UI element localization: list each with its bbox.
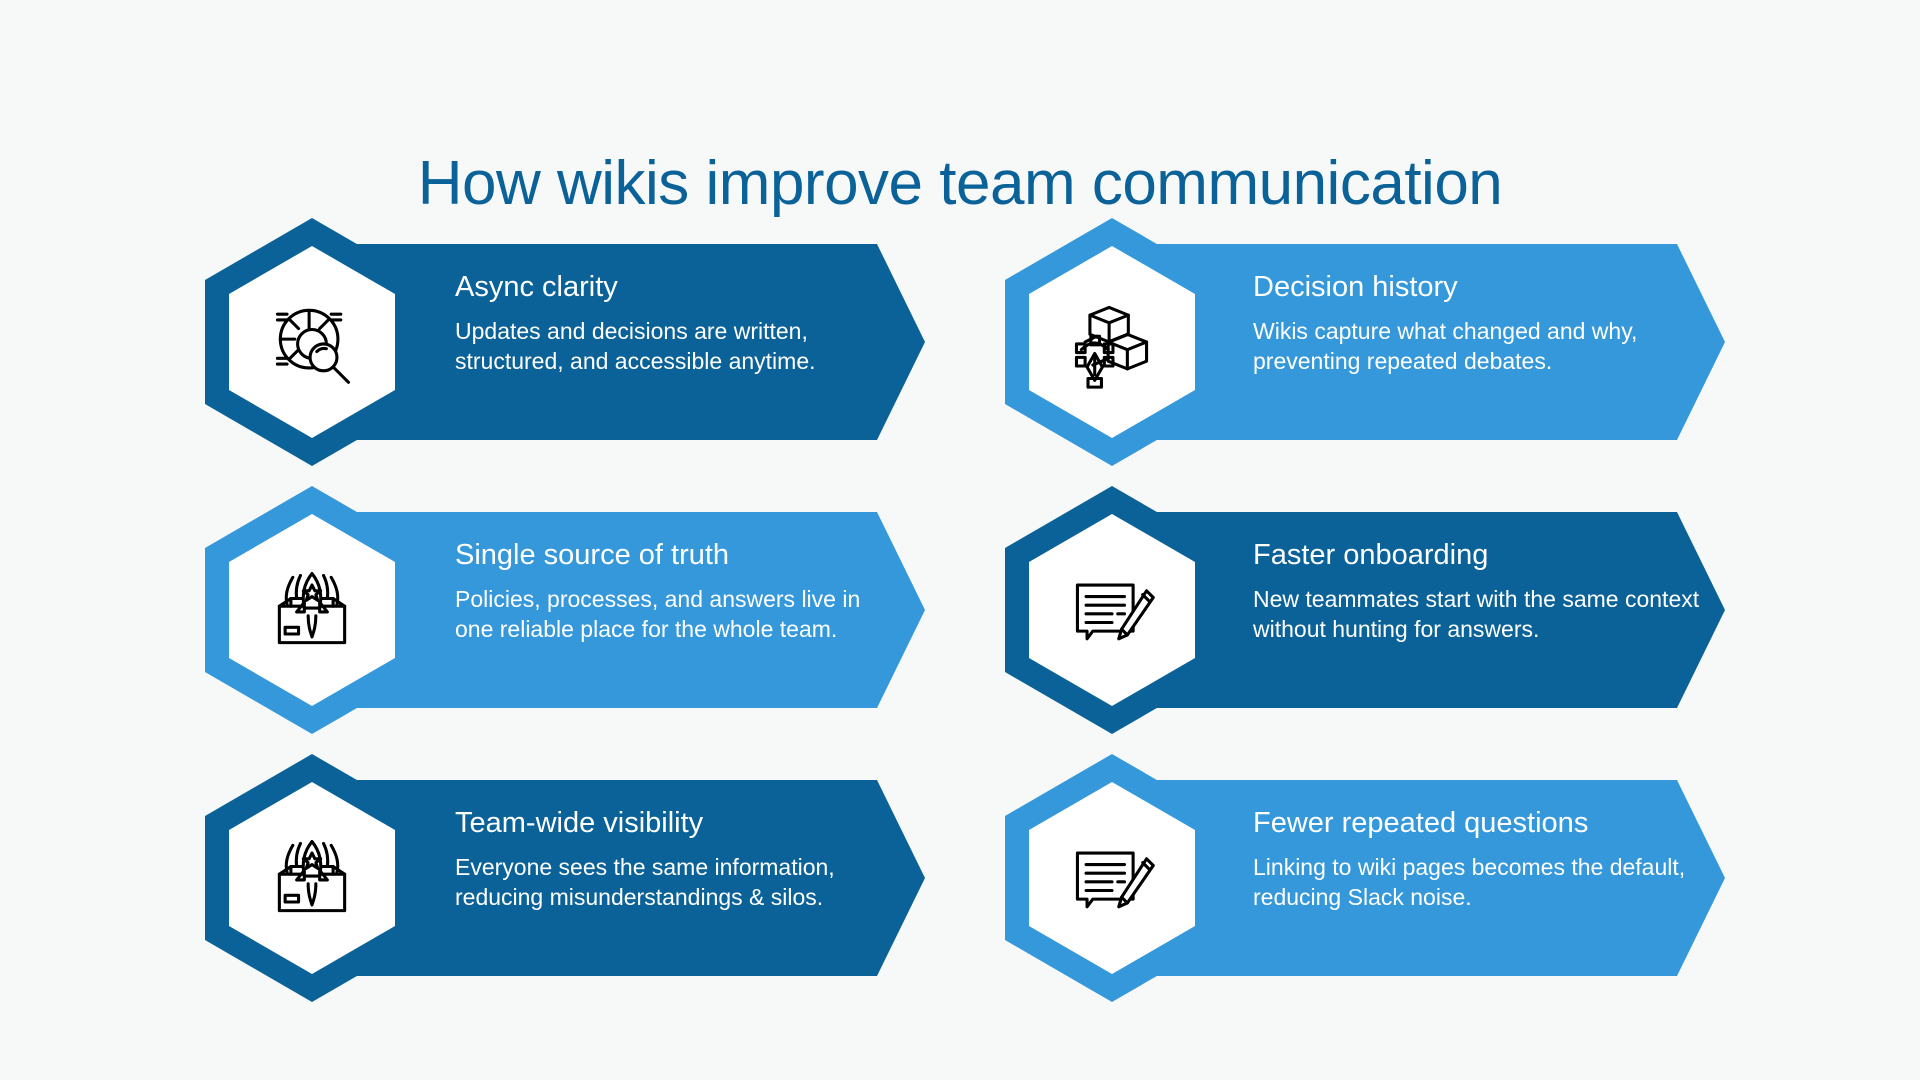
card-hex-inner xyxy=(1029,782,1195,974)
card-title: Async clarity xyxy=(455,270,895,305)
speech-bubble-pencil-icon xyxy=(1064,830,1160,926)
card-description: Policies, processes, and answers live in… xyxy=(455,584,895,645)
page-title: How wikis improve team communication xyxy=(0,150,1920,218)
pie-chart-magnifier-icon xyxy=(264,294,360,390)
card-hex-inner xyxy=(229,246,395,438)
card-hex-inner xyxy=(1029,514,1195,706)
card-text-block: Faster onboarding New teammates start wi… xyxy=(1253,538,1703,645)
card-text-block: Decision history Wikis capture what chan… xyxy=(1253,270,1703,377)
card-title: Decision history xyxy=(1253,270,1703,305)
card-title: Fewer repeated questions xyxy=(1253,806,1703,841)
card-text-block: Single source of truth Policies, process… xyxy=(455,538,895,645)
card-description: Updates and decisions are written, struc… xyxy=(455,316,895,377)
card-hex-inner xyxy=(229,514,395,706)
card-description: Everyone sees the same information, redu… xyxy=(455,852,895,913)
rocket-box-launch-icon xyxy=(264,830,360,926)
card-text-block: Async clarity Updates and decisions are … xyxy=(455,270,895,377)
card-description: New teammates start with the same contex… xyxy=(1253,584,1703,645)
card-single-source-of-truth[interactable]: Single source of truth Policies, process… xyxy=(205,486,925,734)
card-grid: Async clarity Updates and decisions are … xyxy=(205,218,1725,998)
card-fewer-repeated-questions[interactable]: Fewer repeated questions Linking to wiki… xyxy=(1005,754,1725,1002)
rocket-box-launch-icon xyxy=(264,562,360,658)
card-text-block: Fewer repeated questions Linking to wiki… xyxy=(1253,806,1703,913)
card-title: Single source of truth xyxy=(455,538,895,573)
card-hex-inner xyxy=(1029,246,1195,438)
card-title: Faster onboarding xyxy=(1253,538,1703,573)
card-decision-history[interactable]: Decision history Wikis capture what chan… xyxy=(1005,218,1725,466)
cubes-pen-tool-icon xyxy=(1064,294,1160,390)
card-description: Wikis capture what changed and why, prev… xyxy=(1253,316,1703,377)
card-title: Team-wide visibility xyxy=(455,806,895,841)
card-async-clarity[interactable]: Async clarity Updates and decisions are … xyxy=(205,218,925,466)
card-team-wide-visibility[interactable]: Team-wide visibility Everyone sees the s… xyxy=(205,754,925,1002)
infographic-page: How wikis improve team communication xyxy=(0,0,1920,1080)
card-description: Linking to wiki pages becomes the defaul… xyxy=(1253,852,1703,913)
card-hex-inner xyxy=(229,782,395,974)
card-faster-onboarding[interactable]: Faster onboarding New teammates start wi… xyxy=(1005,486,1725,734)
speech-bubble-pencil-icon xyxy=(1064,562,1160,658)
card-text-block: Team-wide visibility Everyone sees the s… xyxy=(455,806,895,913)
